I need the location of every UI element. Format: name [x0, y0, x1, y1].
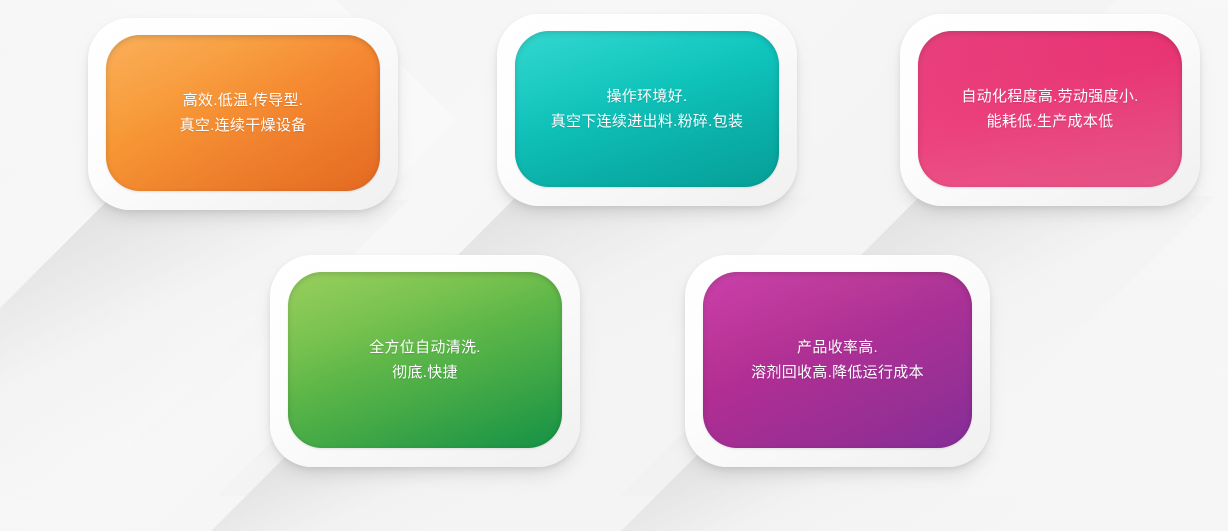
feature-tile-cleaning-panel: 全方位自动清洗. 彻底.快捷	[288, 272, 562, 448]
feature-tile-drying[interactable]: 高效.低温.传导型. 真空.连续干燥设备	[88, 18, 398, 210]
feature-tile-environment-text: 操作环境好. 真空下连续进出料.粉碎.包装	[541, 84, 754, 134]
feature-tile-environment-panel: 操作环境好. 真空下连续进出料.粉碎.包装	[515, 31, 779, 187]
feature-tile-yield-panel: 产品收率高. 溶剂回收高.降低运行成本	[703, 272, 972, 448]
feature-tile-drying-text: 高效.低温.传导型. 真空.连续干燥设备	[170, 88, 317, 138]
feature-tile-cleaning[interactable]: 全方位自动清洗. 彻底.快捷	[270, 255, 580, 467]
feature-tile-automation-text: 自动化程度高.劳动强度小. 能耗低.生产成本低	[951, 84, 1148, 134]
feature-tile-environment[interactable]: 操作环境好. 真空下连续进出料.粉碎.包装	[497, 14, 797, 206]
feature-tile-automation-panel: 自动化程度高.劳动强度小. 能耗低.生产成本低	[918, 31, 1182, 187]
feature-tiles-canvas: 高效.低温.传导型. 真空.连续干燥设备 操作环境好. 真空下连续进出料.粉碎.…	[0, 0, 1228, 531]
feature-tile-cleaning-text: 全方位自动清洗. 彻底.快捷	[359, 335, 491, 385]
feature-tile-drying-panel: 高效.低温.传导型. 真空.连续干燥设备	[106, 35, 380, 191]
feature-tile-yield-text: 产品收率高. 溶剂回收高.降低运行成本	[741, 335, 934, 385]
feature-tile-automation[interactable]: 自动化程度高.劳动强度小. 能耗低.生产成本低	[900, 14, 1200, 206]
feature-tile-yield[interactable]: 产品收率高. 溶剂回收高.降低运行成本	[685, 255, 990, 467]
